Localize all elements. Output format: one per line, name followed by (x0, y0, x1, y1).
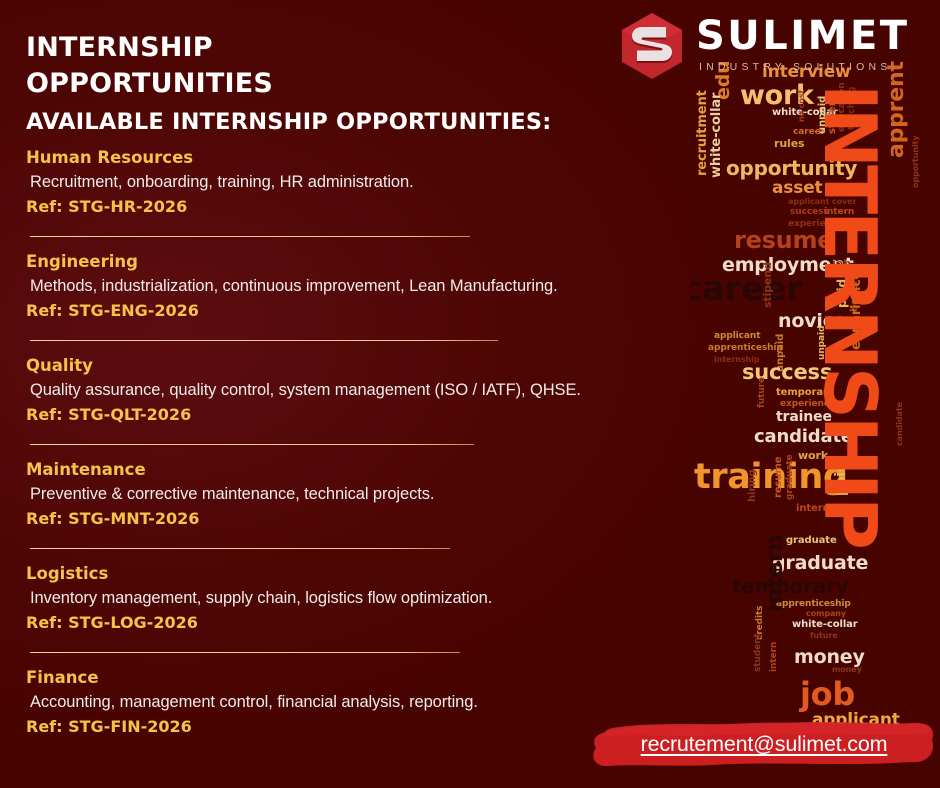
content-column: INTERNSHIP OPPORTUNITIES AVAILABLE INTER… (26, 30, 771, 741)
department-item: Logistics Inventory management, supply c… (26, 562, 771, 635)
department-description: Methods, industrialization, continuous i… (26, 273, 771, 299)
contact-email-link[interactable]: recrutement@sulimet.com (592, 718, 936, 770)
department-reference-code: Ref: STG-HR-2026 (26, 195, 771, 219)
department-name: Quality (26, 354, 771, 377)
section-divider (30, 548, 450, 549)
department-item: Engineering Methods, industrialization, … (26, 250, 771, 323)
wordcloud-word: job (800, 678, 855, 710)
page-subtitle: AVAILABLE INTERNSHIP OPPORTUNITIES: (26, 108, 771, 136)
department-item: Quality Quality assurance, quality contr… (26, 354, 771, 427)
wordcloud-word: white-collar (792, 620, 858, 630)
wordcloud-word: candidate (896, 402, 904, 446)
wordcloud-word: future (810, 632, 838, 640)
page-title-line2: OPPORTUNITIES (26, 66, 771, 102)
wordcloud-word: no cost (798, 90, 806, 122)
department-reference-code: Ref: STG-QLT-2026 (26, 403, 771, 427)
department-item: Human Resources Recruitment, onboarding,… (26, 146, 771, 219)
department-reference-code: Ref: STG-ENG-2026 (26, 299, 771, 323)
department-name: Maintenance (26, 458, 771, 481)
department-name: Finance (26, 666, 771, 689)
department-reference-code: Ref: STG-MNT-2026 (26, 507, 771, 531)
section-divider (30, 340, 498, 341)
department-reference-code: Ref: STG-LOG-2026 (26, 611, 771, 635)
wordcloud-word: company (806, 610, 846, 618)
wordcloud-word: money (832, 666, 862, 674)
section-divider (30, 236, 470, 237)
department-description: Quality assurance, quality control, syst… (26, 377, 771, 403)
wordcloud-word: opportunity (912, 135, 920, 188)
department-description: Accounting, management control, financia… (26, 689, 771, 715)
page-title-line1: INTERNSHIP (26, 30, 771, 66)
wordcloud-word: graduate (786, 454, 795, 500)
department-name: Human Resources (26, 146, 771, 169)
department-description: Recruitment, onboarding, training, HR ad… (26, 169, 771, 195)
department-name: Engineering (26, 250, 771, 273)
poster-canvas: interviewworkeducationwhite-collarno cos… (0, 0, 940, 788)
section-divider (30, 652, 460, 653)
contact-email-banner[interactable]: recrutement@sulimet.com (592, 718, 936, 770)
department-description: Inventory management, supply chain, logi… (26, 585, 771, 611)
section-divider (30, 444, 474, 445)
department-list: Human Resources Recruitment, onboarding,… (26, 146, 771, 739)
wordcloud-word: resume (774, 457, 784, 498)
department-name: Logistics (26, 562, 771, 585)
wordcloud-word: rules (774, 138, 804, 149)
wordcloud-headline: INTERNSHIP (814, 84, 886, 547)
wordcloud-word: intern (770, 642, 779, 672)
department-description: Preventive & corrective maintenance, tec… (26, 481, 771, 507)
department-item: Maintenance Preventive & corrective main… (26, 458, 771, 531)
